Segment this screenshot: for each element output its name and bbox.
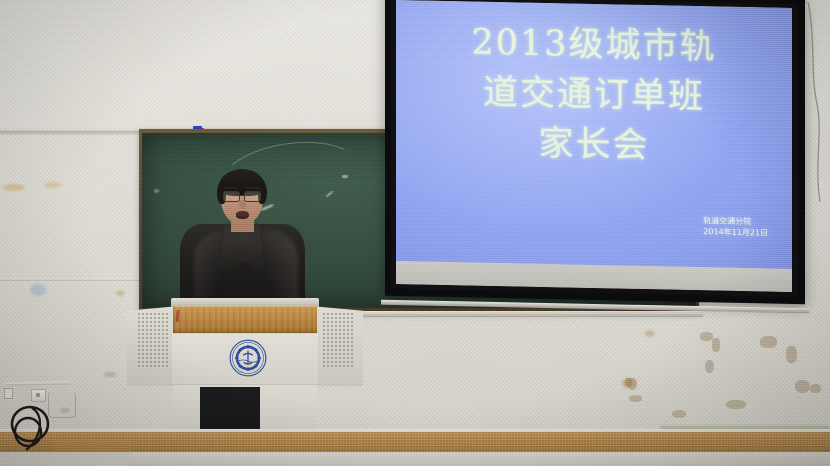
speaker-grille-right: [322, 312, 354, 368]
slide-title-line-3: 家长会: [396, 116, 792, 174]
power-outlet[interactable]: [31, 389, 46, 402]
hanging-cable: [806, 2, 830, 212]
wall-switch[interactable]: [4, 388, 13, 399]
slide-title-line-2: 道交通订单班: [396, 66, 792, 124]
outlet-socket: [36, 393, 40, 397]
paint-peel: [672, 410, 686, 418]
paint-peel: [712, 338, 720, 352]
person-nose: [239, 200, 246, 209]
photo-scene: 2013级城市轨 道交通订单班 家长会 轨道交通分院 2014年11月21日: [0, 0, 830, 466]
university-crest-icon: [229, 339, 267, 377]
slide-title-line-1: 2013级城市轨: [396, 16, 792, 74]
slide-title: 2013级城市轨 道交通订单班 家长会: [396, 16, 792, 174]
presentation-slide: 2013级城市轨 道交通订单班 家长会 轨道交通分院 2014年11月21日: [396, 0, 792, 269]
paint-peel: [786, 346, 797, 363]
wall-stain: [622, 378, 636, 388]
paint-peel: [629, 395, 642, 402]
speaker-person: [180, 172, 305, 314]
chalk-mark: [154, 189, 159, 193]
person-mouth: [236, 211, 249, 219]
wall-stain: [30, 284, 46, 296]
person-eyebrow: [224, 187, 238, 189]
glasses-lens: [223, 191, 240, 202]
wall-stain: [116, 290, 125, 296]
screen-surface: 2013级城市轨 道交通订单班 家长会 轨道交通分院 2014年11月21日: [396, 0, 792, 292]
paint-peel: [700, 332, 713, 341]
eyeglasses-icon: [223, 191, 261, 200]
lectern-wood-panel: [173, 306, 317, 333]
person-eyebrow: [246, 187, 260, 189]
wall-stain: [44, 182, 62, 188]
wall-stain: [104, 372, 116, 377]
paint-peel: [795, 380, 810, 393]
coiled-cable: [6, 402, 58, 458]
speaker-grille-left: [137, 312, 169, 368]
wood-grain-texture: [173, 306, 317, 333]
projection-screen: 2013级城市轨 道交通订单班 家长会 轨道交通分院 2014年11月21日: [385, 0, 805, 304]
slide-footer: 轨道交通分院 2014年11月21日: [703, 215, 768, 238]
chalk-mark: [342, 175, 348, 178]
paint-peel: [726, 400, 746, 409]
paint-peel: [760, 336, 777, 348]
wall-stain: [645, 330, 655, 337]
wall-stain: [3, 184, 25, 191]
paint-peel: [810, 384, 821, 393]
glasses-lens: [244, 191, 261, 202]
slide-footer-date: 2014年11月21日: [703, 226, 768, 238]
paint-peel: [705, 360, 714, 373]
